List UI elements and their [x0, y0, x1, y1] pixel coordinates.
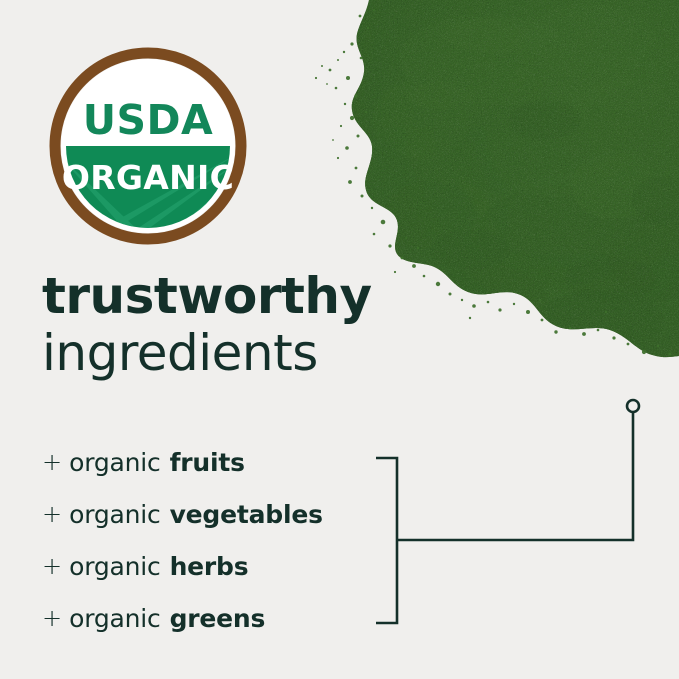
- plus-icon: +: [42, 554, 62, 578]
- endpoint-circle-icon: [627, 400, 639, 412]
- ingredient-prefix: organic: [69, 604, 160, 633]
- plus-icon: +: [42, 502, 62, 526]
- ingredient-name: herbs: [170, 552, 249, 581]
- ingredient-name: greens: [170, 604, 266, 633]
- headline-block: trustworthy ingredients: [42, 268, 462, 382]
- ingredient-prefix: organic: [69, 500, 160, 529]
- list-item: + organic vegetables: [42, 488, 382, 540]
- ingredient-prefix: organic: [69, 552, 160, 581]
- list-item: + organic fruits: [42, 436, 382, 488]
- bracket-stem: [397, 413, 633, 540]
- plus-icon: +: [42, 606, 62, 630]
- ingredient-list: + organic fruits + organic vegetables + …: [42, 436, 382, 644]
- bracket-connector: [370, 385, 679, 645]
- seal-organic-text: ORGANIC: [62, 158, 234, 197]
- headline-line-2: ingredients: [42, 324, 462, 382]
- seal-usda-text: USDA: [83, 96, 214, 144]
- ingredient-name: fruits: [170, 448, 245, 477]
- poster-canvas: USDA ORGANIC trustworthy ingredients + o…: [0, 0, 679, 679]
- headline-line-1: trustworthy: [42, 268, 462, 324]
- list-item: + organic herbs: [42, 540, 382, 592]
- usda-organic-seal: USDA ORGANIC: [48, 46, 248, 246]
- ingredient-name: vegetables: [170, 500, 323, 529]
- plus-icon: +: [42, 450, 62, 474]
- list-item: + organic greens: [42, 592, 382, 644]
- ingredient-prefix: organic: [69, 448, 160, 477]
